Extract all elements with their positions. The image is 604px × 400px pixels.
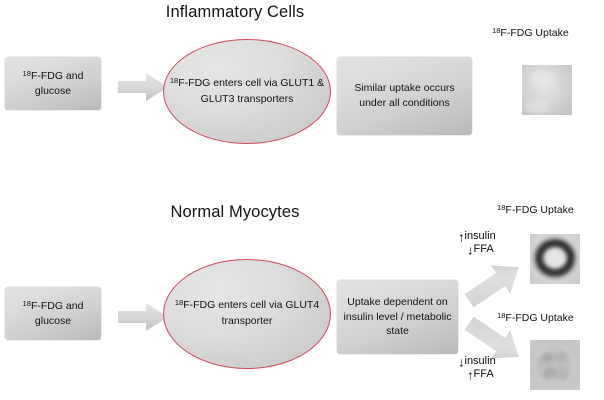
myocyte-cell-superscript: 18	[175, 298, 183, 307]
myocyte-uptake-top-text: F-FDG Uptake	[505, 204, 573, 216]
inflammatory-result-label: Similar uptake occurs under all conditio…	[343, 81, 466, 111]
myocyte-input-label: F-FDG and glucose	[31, 300, 84, 327]
condition-high-insulin-low-ffa: ↑ insulin ↓ FFA	[458, 230, 496, 256]
condition-low-insulin-high-ffa: ↓ insulin ↑ FFA	[458, 355, 496, 381]
arrow-down-icon: ↓	[458, 356, 465, 369]
inflammatory-cell-ellipse: 18F-FDG enters cell via GLUT1 & GLUT3 tr…	[163, 39, 331, 144]
inflammatory-input-superscript: 18	[23, 68, 31, 77]
inflammatory-input-label: F-FDG and glucose	[31, 70, 84, 97]
condition-low-line-2: ↑ FFA	[458, 368, 496, 381]
inflammatory-input-box: 18F-FDG and glucose	[5, 57, 101, 110]
inflammatory-uptake-text: F-FDG Uptake	[500, 27, 568, 39]
condition-high-line-2: ↓ FFA	[458, 243, 496, 256]
arrow-up-icon: ↑	[467, 369, 474, 382]
inflammatory-uptake-label: 18F-FDG Uptake	[492, 27, 569, 39]
myocyte-uptake-label-top: 18F-FDG Uptake	[497, 204, 574, 216]
condition-high-line-1: ↑ insulin	[458, 230, 496, 243]
myocyte-cell-label: F-FDG enters cell via GLUT4 transporter	[183, 299, 319, 327]
pet-scan-ring	[530, 234, 580, 284]
myocyte-branch-arrow-up	[462, 262, 526, 306]
pet-scan-diffuse	[530, 340, 580, 390]
condition-low-line-1-label: insulin	[465, 355, 496, 368]
condition-low-line-1: ↓ insulin	[458, 355, 496, 368]
myocyte-uptake-label-bottom: 18F-FDG Uptake	[497, 312, 574, 324]
myocyte-input-text: 18F-FDG and glucose	[11, 299, 95, 329]
myocyte-result-box: Uptake dependent on insulin level / meta…	[337, 280, 458, 354]
condition-high-line-2-label: FFA	[474, 243, 494, 256]
pet-scan-crescent	[522, 65, 572, 115]
myocyte-input-box: 18F-FDG and glucose	[5, 287, 101, 340]
myocyte-cell-text: 18F-FDG enters cell via GLUT4 transporte…	[164, 298, 330, 330]
condition-high-line-1-label: insulin	[465, 230, 496, 243]
arrow-down-icon: ↓	[467, 244, 474, 257]
inflammatory-input-text: 18F-FDG and glucose	[11, 69, 95, 99]
inflammatory-cell-label: F-FDG enters cell via GLUT1 & GLUT3 tran…	[178, 77, 324, 105]
diagram-canvas: Inflammatory Cells 18F-FDG and glucose 1…	[0, 0, 604, 400]
myocyte-arrow-right	[118, 303, 168, 331]
myocyte-result-label: Uptake dependent on insulin level / meta…	[343, 295, 452, 340]
inflammatory-cell-text: 18F-FDG enters cell via GLUT1 & GLUT3 tr…	[164, 76, 330, 108]
myocyte-cell-ellipse: 18F-FDG enters cell via GLUT4 transporte…	[163, 259, 331, 369]
section-title-normal-myocytes: Normal Myocytes	[0, 203, 470, 222]
myocyte-input-superscript: 18	[23, 298, 31, 307]
arrow-up-icon: ↑	[458, 231, 465, 244]
myocyte-uptake-bottom-text: F-FDG Uptake	[505, 312, 573, 324]
inflammatory-arrow-right	[118, 73, 168, 101]
inflammatory-cell-superscript: 18	[170, 76, 178, 85]
condition-low-line-2-label: FFA	[474, 368, 494, 381]
section-title-inflammatory-cells: Inflammatory Cells	[0, 3, 470, 22]
inflammatory-result-box: Similar uptake occurs under all conditio…	[337, 57, 472, 135]
